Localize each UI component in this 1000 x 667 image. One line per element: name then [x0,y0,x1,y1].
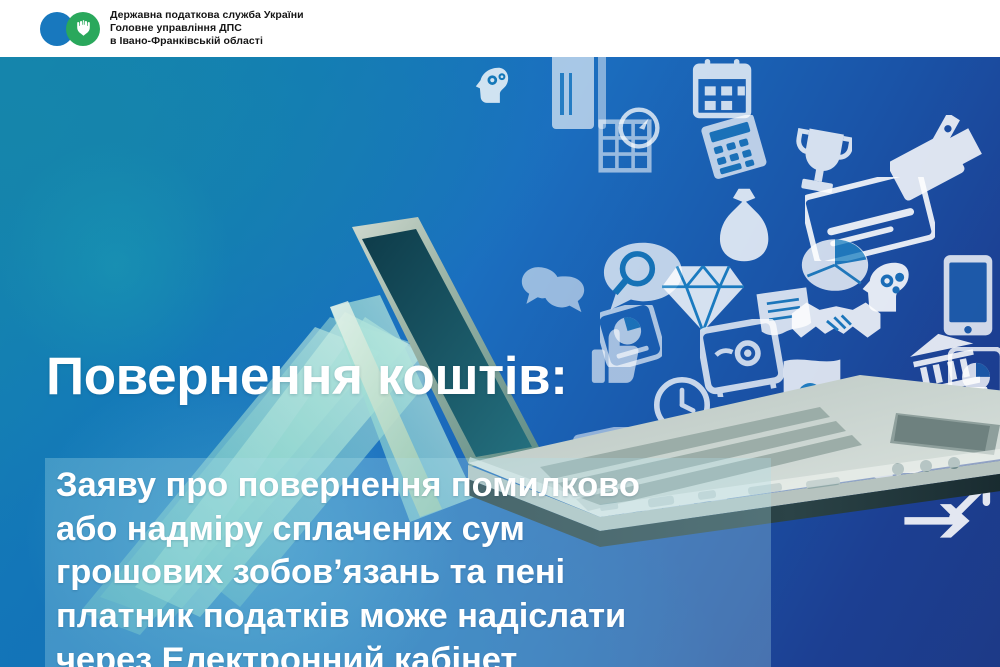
teal-glow [0,97,480,517]
bank-card-icon [805,177,935,261]
poster-page: Державна податкова служба України Головн… [0,0,1000,667]
thumbs-up-icon [590,327,642,385]
globe-card-icon [890,387,1000,473]
pie-chart-card-icon [600,305,662,367]
tablet-icon [940,253,996,343]
message-line-2: або надміру сплачених сум [56,508,763,552]
flag-icon [778,357,846,445]
speech-bubble-icon [520,265,586,317]
document-icon [755,285,817,337]
hero-banner: Повернення коштів: Заяву про повернення … [0,57,1000,667]
calendar-icon [690,59,756,121]
credit-card-icon [548,57,608,141]
speedometer-icon [618,107,660,149]
bank-icon [908,329,980,393]
exchange-arrows-icon [724,409,780,447]
brain-gears-icon [470,65,516,109]
org-line-3: в Івано-Франківській області [110,35,304,48]
pie-chart-card-icon [948,347,1000,403]
clock-icon [654,377,710,433]
banknote-icon [876,417,938,461]
brain-gears-icon [858,261,916,317]
grid-icon [598,119,652,173]
calculator-icon [700,115,770,179]
diamond-icon [660,257,746,337]
message-line-1: Заяву про повернення помилково [56,464,763,508]
organization-name: Державна податкова служба України Головн… [110,9,304,49]
message-line-4: платник податків може надіслати [56,595,763,639]
arrows-icon [902,465,1000,547]
org-line-2: Головне управління ДПС [110,22,304,35]
safe-icon [700,319,784,397]
message-line-5: через Електронний кабінет [56,639,763,667]
trident-emblem-icon [77,20,90,37]
magnifier-speech-bubble-icon [600,239,686,319]
site-header: Державна податкова служба України Головн… [0,0,1000,57]
org-line-1: Державна податкова служба України [110,9,304,22]
trophy-icon [790,125,852,203]
tax-service-logo [40,12,102,46]
message-text: Заяву про повернення помилково або надмі… [45,464,771,667]
message-overlay-box: Заяву про повернення помилково або надмі… [45,458,771,667]
logo-green-circle [66,12,100,46]
pie-chart-icon [800,235,870,295]
message-line-3: грошових зобов’язань та пені [56,551,763,595]
page-title: Повернення коштів: [46,349,567,405]
megaphone-icon [854,449,904,491]
handshake-icon [790,293,886,349]
fountain-pen-icon [890,115,990,225]
money-bag-icon [718,185,774,265]
